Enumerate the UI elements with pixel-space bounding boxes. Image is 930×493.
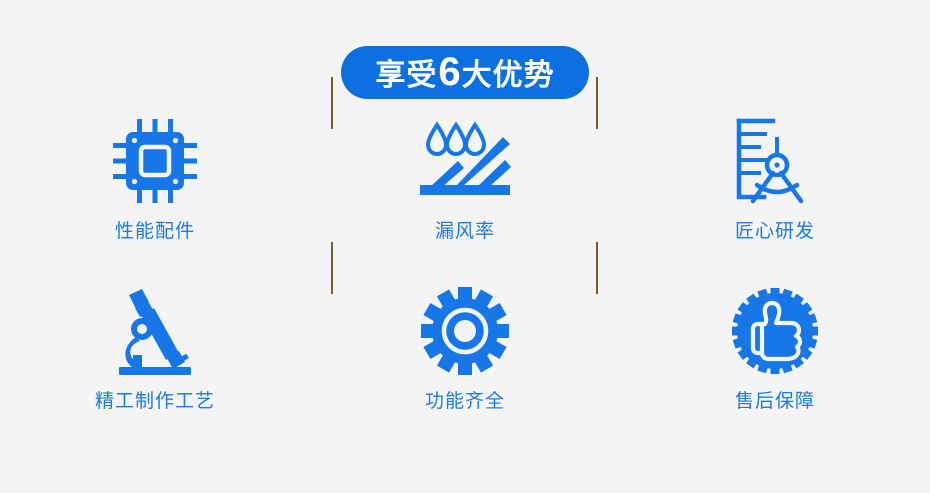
feature-label: 精工制作工艺 [95,386,215,413]
thumbs-up-badge-icon [725,283,825,378]
feature-label: 性能配件 [115,216,195,243]
feature-label: 售后保障 [735,386,815,413]
feature-item-full-function[interactable]: 功能齐全 [310,283,620,453]
feature-item-performance-parts[interactable]: 性能配件 [0,113,310,283]
banner-container: 享受6大优势 [0,46,930,99]
divider-row1-left [331,77,333,129]
feature-label: 功能齐全 [425,386,505,413]
features-row-2: 精工制作工艺 [0,283,930,453]
headline-number: 6 [437,50,461,94]
divider-row1-right [596,77,598,129]
divider-row2-left [331,242,333,294]
headline-suffix: 大优势 [462,59,555,92]
divider-row2-right [596,242,598,294]
microscope-icon [105,283,205,378]
feature-item-air-leakage[interactable]: 漏风率 [310,113,620,283]
features-row-1: 性能配件 漏风 [0,113,930,283]
features-grid: 性能配件 漏风 [0,113,930,453]
feature-item-rnd[interactable]: 匠心研发 [620,113,930,283]
feature-label: 匠心研发 [735,216,815,243]
water-drops-louver-icon [415,113,515,208]
cpu-chip-icon [105,113,205,208]
ruler-compass-icon [725,113,825,208]
feature-item-craftsmanship[interactable]: 精工制作工艺 [0,283,310,453]
feature-item-after-sales[interactable]: 售后保障 [620,283,930,453]
headline-banner: 享受6大优势 [341,46,588,99]
promo-features-page: 享受6大优势 [0,0,930,493]
headline-prefix: 享受 [375,59,437,92]
feature-label: 漏风率 [435,216,495,243]
gear-icon [415,283,515,378]
